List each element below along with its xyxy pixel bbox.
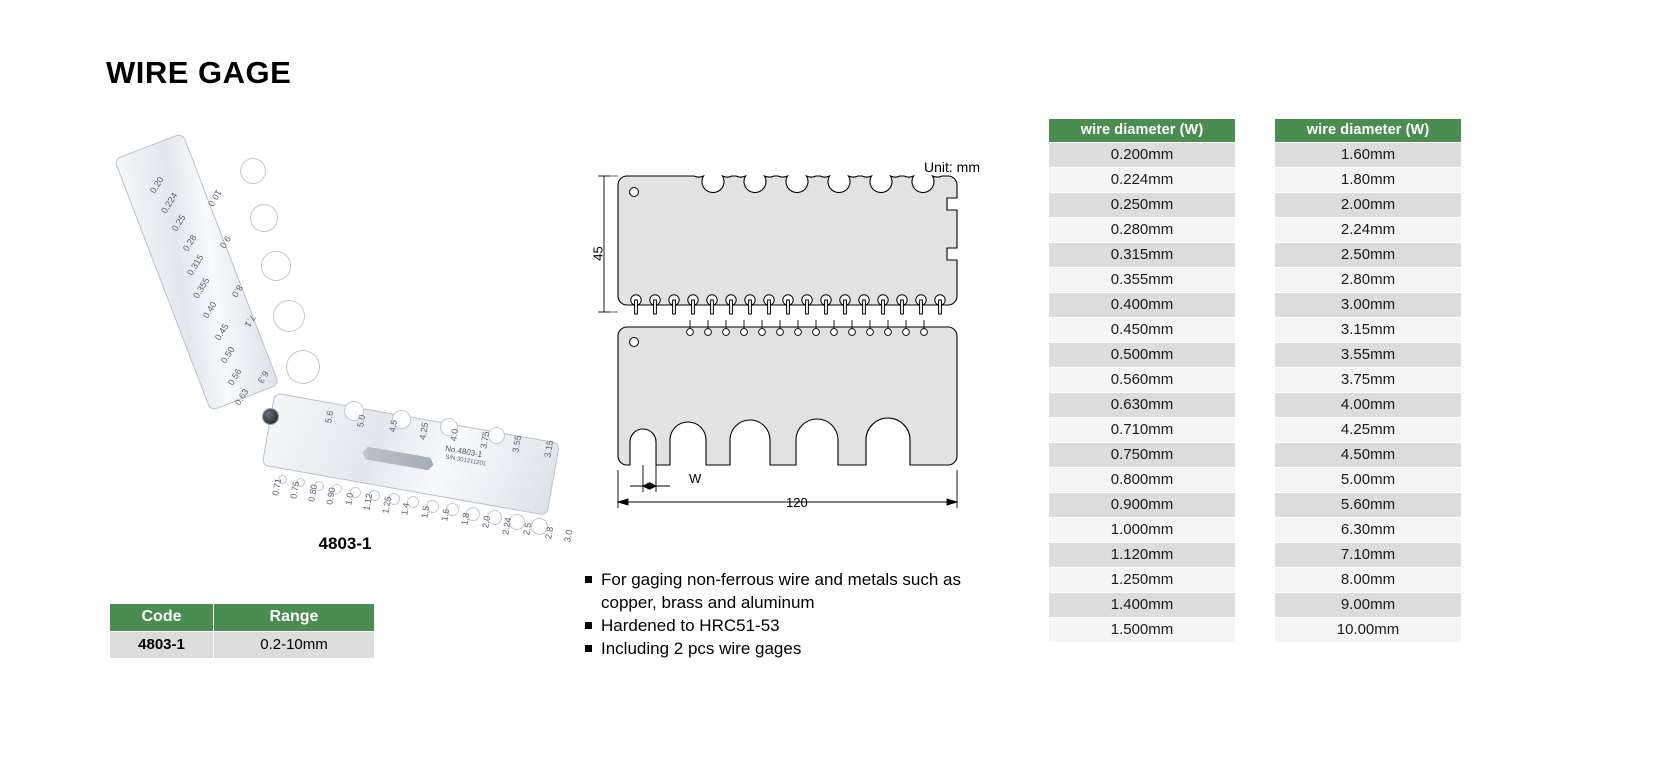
wire-diameter-table-left: wire diameter (W) 0.200mm 0.224mm 0.250m…: [1049, 118, 1235, 643]
wire-diameter-value: 5.60mm: [1275, 493, 1461, 517]
wire-diameter-value: 0.560mm: [1049, 368, 1235, 392]
table-row: 0.250mm: [1049, 193, 1235, 217]
wire-diameter-header-row-right: wire diameter (W): [1275, 119, 1461, 142]
table-row: 9.00mm: [1275, 593, 1461, 617]
table-row: 8.00mm: [1275, 568, 1461, 592]
table-row: 0.315mm: [1049, 243, 1235, 267]
gauge-pivot-rivet: [262, 408, 279, 425]
wire-diameter-value: 0.710mm: [1049, 418, 1235, 442]
scale-label: 1.6: [439, 508, 451, 522]
list-item: Including 2 pcs wire gages: [585, 637, 1005, 660]
wire-diameter-value: 8.00mm: [1275, 568, 1461, 592]
page-title: WIRE GAGE: [106, 55, 291, 91]
table-row: 4803-1 0.2-10mm: [110, 632, 375, 659]
wire-diameter-value: 7.10mm: [1275, 543, 1461, 567]
table-row: 0.200mm: [1049, 143, 1235, 167]
scale-label: 4.0: [448, 428, 460, 442]
top-view: [618, 176, 957, 305]
unit-label: Unit: mm: [924, 159, 980, 175]
scale-label: 0.75: [288, 480, 301, 499]
wire-diameter-value: 2.80mm: [1275, 268, 1461, 292]
feature-text: For gaging non-ferrous wire and metals s…: [601, 568, 1005, 614]
wire-diameter-value: 0.630mm: [1049, 393, 1235, 417]
dimension-width-label: 120: [786, 495, 808, 510]
scale-label: 2.8: [543, 526, 555, 540]
gauge-notch: [257, 247, 296, 286]
wire-diameter-value: 1.80mm: [1275, 168, 1461, 192]
wire-diameter-value: 3.75mm: [1275, 368, 1461, 392]
table-row: 4.25mm: [1275, 418, 1461, 442]
gauge-notch: [268, 295, 309, 336]
wire-diameter-value: 1.000mm: [1049, 518, 1235, 542]
scale-label: 1.12: [361, 492, 374, 511]
height-dimension: [598, 176, 618, 312]
scale-label: 10.0: [206, 188, 224, 208]
wire-diameter-value: 4.25mm: [1275, 418, 1461, 442]
wire-diameter-column-header: wire diameter (W): [1049, 119, 1235, 142]
feature-text: Hardened to HRC51-53: [601, 614, 1005, 637]
table-row: 4.00mm: [1275, 393, 1461, 417]
scale-label: 2.0: [480, 515, 492, 529]
wire-diameter-value: 0.280mm: [1049, 218, 1235, 242]
scale-label: 1.8: [459, 512, 471, 526]
table-row: 0.355mm: [1049, 268, 1235, 292]
table-row: 1.500mm: [1049, 618, 1235, 642]
scale-label: 1.4: [399, 502, 411, 516]
code-range-table: Code Range 4803-1 0.2-10mm: [109, 603, 375, 659]
gauge-notch: [281, 345, 325, 389]
table-row: 1.250mm: [1049, 568, 1235, 592]
wire-diameter-value: 10.00mm: [1275, 618, 1461, 642]
dimension-slot-label: W: [689, 471, 701, 486]
table-row: 0.630mm: [1049, 393, 1235, 417]
wire-diameter-value: 0.450mm: [1049, 318, 1235, 342]
wire-diameter-value: 0.500mm: [1049, 343, 1235, 367]
table-row: 3.00mm: [1275, 293, 1461, 317]
code-value: 4803-1: [110, 632, 214, 659]
wire-diameter-value: 0.355mm: [1049, 268, 1235, 292]
wire-diameter-value: 3.15mm: [1275, 318, 1461, 342]
wire-diameter-value: 6.30mm: [1275, 518, 1461, 542]
wire-diameter-value: 0.800mm: [1049, 468, 1235, 492]
table-row: 0.450mm: [1049, 318, 1235, 342]
hang-hole-top-view: [630, 188, 639, 197]
wire-diameter-value: 4.50mm: [1275, 443, 1461, 467]
table-row: 1.000mm: [1049, 518, 1235, 542]
table-row: 0.710mm: [1049, 418, 1235, 442]
wire-diameter-value: 3.00mm: [1275, 293, 1461, 317]
wire-diameter-value: 9.00mm: [1275, 593, 1461, 617]
features-list: For gaging non-ferrous wire and metals s…: [585, 568, 1005, 660]
table-row: 6.30mm: [1275, 518, 1461, 542]
wire-diameter-value: 1.500mm: [1049, 618, 1235, 642]
bullet-square-icon: [585, 645, 592, 652]
table-row: 0.500mm: [1049, 343, 1235, 367]
feature-text: Including 2 pcs wire gages: [601, 637, 1005, 660]
table-row: 2.50mm: [1275, 243, 1461, 267]
slot-width-dimension: [630, 465, 670, 492]
wire-diameter-value: 1.250mm: [1049, 568, 1235, 592]
table-row: 0.750mm: [1049, 443, 1235, 467]
wire-diameter-value: 0.200mm: [1049, 143, 1235, 167]
drawing-svg: [590, 150, 990, 530]
product-photo-caption: 4803-1: [100, 534, 590, 554]
wire-diameter-value: 0.750mm: [1049, 443, 1235, 467]
scale-label: 0.90: [324, 486, 337, 505]
scale-label: 2.24: [500, 516, 513, 535]
table-row: 0.560mm: [1049, 368, 1235, 392]
wire-diameter-value: 4.00mm: [1275, 393, 1461, 417]
wire-diameter-value: 3.55mm: [1275, 343, 1461, 367]
bullet-square-icon: [585, 622, 592, 629]
wire-diameter-value: 0.900mm: [1049, 493, 1235, 517]
wire-diameter-value: 0.400mm: [1049, 293, 1235, 317]
scale-label: 1.5: [419, 505, 431, 519]
list-item: For gaging non-ferrous wire and metals s…: [585, 568, 1005, 614]
scale-label: 0.71: [270, 477, 283, 496]
wire-diameter-value: 2.50mm: [1275, 243, 1461, 267]
table-row: 0.280mm: [1049, 218, 1235, 242]
list-item: Hardened to HRC51-53: [585, 614, 1005, 637]
wire-diameter-table-right: wire diameter (W) 1.60mm 1.80mm 2.00mm 2…: [1275, 118, 1461, 643]
table-row: 4.50mm: [1275, 443, 1461, 467]
wire-diameter-header-row-left: wire diameter (W): [1049, 119, 1235, 142]
scale-label: 1.25: [380, 495, 393, 514]
table-row: 2.80mm: [1275, 268, 1461, 292]
table-row: 3.15mm: [1275, 318, 1461, 342]
table-row: 2.24mm: [1275, 218, 1461, 242]
front-view: [618, 327, 957, 465]
wire-diameter-value: 2.00mm: [1275, 193, 1461, 217]
wire-diameter-value: 5.00mm: [1275, 468, 1461, 492]
table-row: 0.900mm: [1049, 493, 1235, 517]
table-row: 0.400mm: [1049, 293, 1235, 317]
wire-diameter-value: 0.250mm: [1049, 193, 1235, 217]
code-column-header: Code: [110, 604, 214, 632]
table-row: 10.00mm: [1275, 618, 1461, 642]
product-photo: No.4803-1 S/N:301211201 0.20 0.224 0.25 …: [100, 120, 590, 540]
table-row: 1.120mm: [1049, 543, 1235, 567]
wire-diameter-value: 0.224mm: [1049, 168, 1235, 192]
code-range-header-row: Code Range: [110, 604, 375, 632]
scale-label: 3.0: [562, 529, 574, 543]
range-value: 0.2-10mm: [214, 632, 375, 659]
gauge-notch: [246, 200, 282, 236]
table-row: 0.224mm: [1049, 168, 1235, 192]
table-row: 3.75mm: [1275, 368, 1461, 392]
range-column-header: Range: [214, 604, 375, 632]
table-row: 1.400mm: [1049, 593, 1235, 617]
table-row: 1.60mm: [1275, 143, 1461, 167]
wire-diameter-value: 1.120mm: [1049, 543, 1235, 567]
table-row: 7.10mm: [1275, 543, 1461, 567]
scale-label: 5.6: [323, 410, 335, 424]
table-row: 1.80mm: [1275, 168, 1461, 192]
table-row: 3.55mm: [1275, 343, 1461, 367]
wire-diameter-value: 1.400mm: [1049, 593, 1235, 617]
wire-diameter-value: 2.24mm: [1275, 218, 1461, 242]
scale-label: 4.5: [387, 419, 399, 433]
technical-drawing: Unit: mm: [590, 150, 990, 530]
table-row: 5.60mm: [1275, 493, 1461, 517]
scale-label: 0.80: [306, 483, 319, 502]
table-row: 5.00mm: [1275, 468, 1461, 492]
wire-diameter-column-header: wire diameter (W): [1275, 119, 1461, 142]
scale-label: 2.5: [521, 522, 533, 536]
scale-label: 1.0: [343, 492, 355, 506]
wire-diameter-value: 1.60mm: [1275, 143, 1461, 167]
table-row: 0.800mm: [1049, 468, 1235, 492]
hang-hole-front-view: [630, 338, 639, 347]
gauge-notch: [236, 154, 270, 188]
dimension-height-label: 45: [591, 246, 606, 260]
wire-diameter-value: 0.315mm: [1049, 243, 1235, 267]
table-row: 2.00mm: [1275, 193, 1461, 217]
scale-label: 5.0: [355, 414, 367, 428]
bullet-square-icon: [585, 576, 592, 583]
